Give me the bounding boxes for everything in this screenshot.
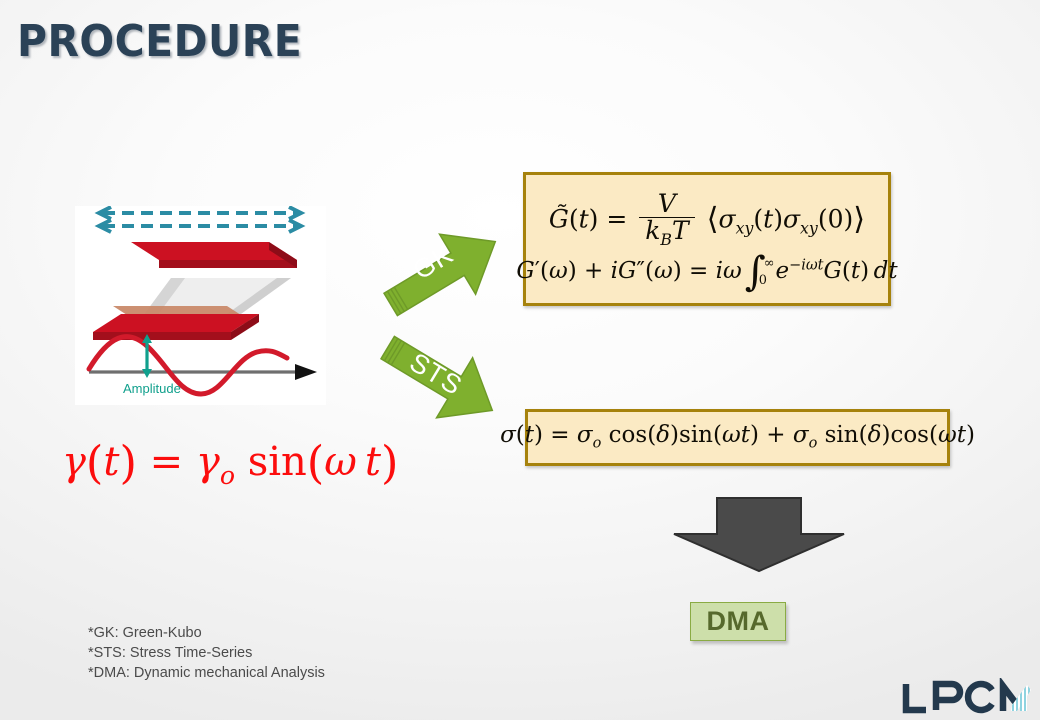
- dma-result-box[interactable]: DMA: [690, 602, 786, 641]
- green-kubo-equation-line1: G̃(t) = V kBT ⟨σxy(t)σxy(0)⟩: [549, 192, 865, 250]
- sts-arrow[interactable]: [373, 327, 507, 431]
- amplitude-label: Amplitude: [123, 381, 181, 396]
- fraction-numerator: V: [652, 191, 682, 217]
- green-kubo-equation-line2: G′(ω) + iG″(ω) = iω∫∞0e−iωtG(t) dt: [516, 256, 897, 288]
- footnote-legend: *GK: Green-Kubo *STS: Stress Time-Series…: [88, 624, 325, 684]
- slide-canvas: PROCEDURE: [0, 0, 1040, 720]
- stress-timeseries-equation: σ(t) = σo cos(δ)sin(ωt) + σo sin(δ)cos(ω…: [500, 424, 975, 451]
- time-axis: [89, 364, 317, 380]
- result-down-arrow: [672, 496, 846, 573]
- shear-direction-arrows: [99, 207, 301, 232]
- rheometer-diagram-svg: Amplitude: [75, 206, 326, 405]
- footnote-sts: *STS: Stress Time-Series: [88, 644, 325, 664]
- dma-label: DMA: [707, 606, 770, 637]
- fraction-denominator: kBT: [639, 217, 694, 249]
- green-kubo-formula-box: G̃(t) = V kBT ⟨σxy(t)σxy(0)⟩ G′(ω) + iG″…: [523, 172, 891, 306]
- gk-arrow[interactable]: [376, 222, 510, 324]
- sine-wave: [89, 337, 287, 394]
- footnote-dma: *DMA: Dynamic mechanical Analysis: [88, 664, 325, 684]
- rheometer-diagram-panel: Amplitude: [75, 206, 326, 405]
- lpcm-logo: [900, 678, 1038, 718]
- page-title: PROCEDURE: [17, 20, 302, 64]
- strain-equation: γ(t) = γo sin(ω t): [62, 438, 398, 488]
- top-plate: [131, 242, 297, 268]
- amplitude-arrow: [142, 334, 152, 378]
- stress-timeseries-formula-box: σ(t) = σo cos(δ)sin(ωt) + σo sin(δ)cos(ω…: [525, 409, 950, 466]
- footnote-gk: *GK: Green-Kubo: [88, 624, 325, 644]
